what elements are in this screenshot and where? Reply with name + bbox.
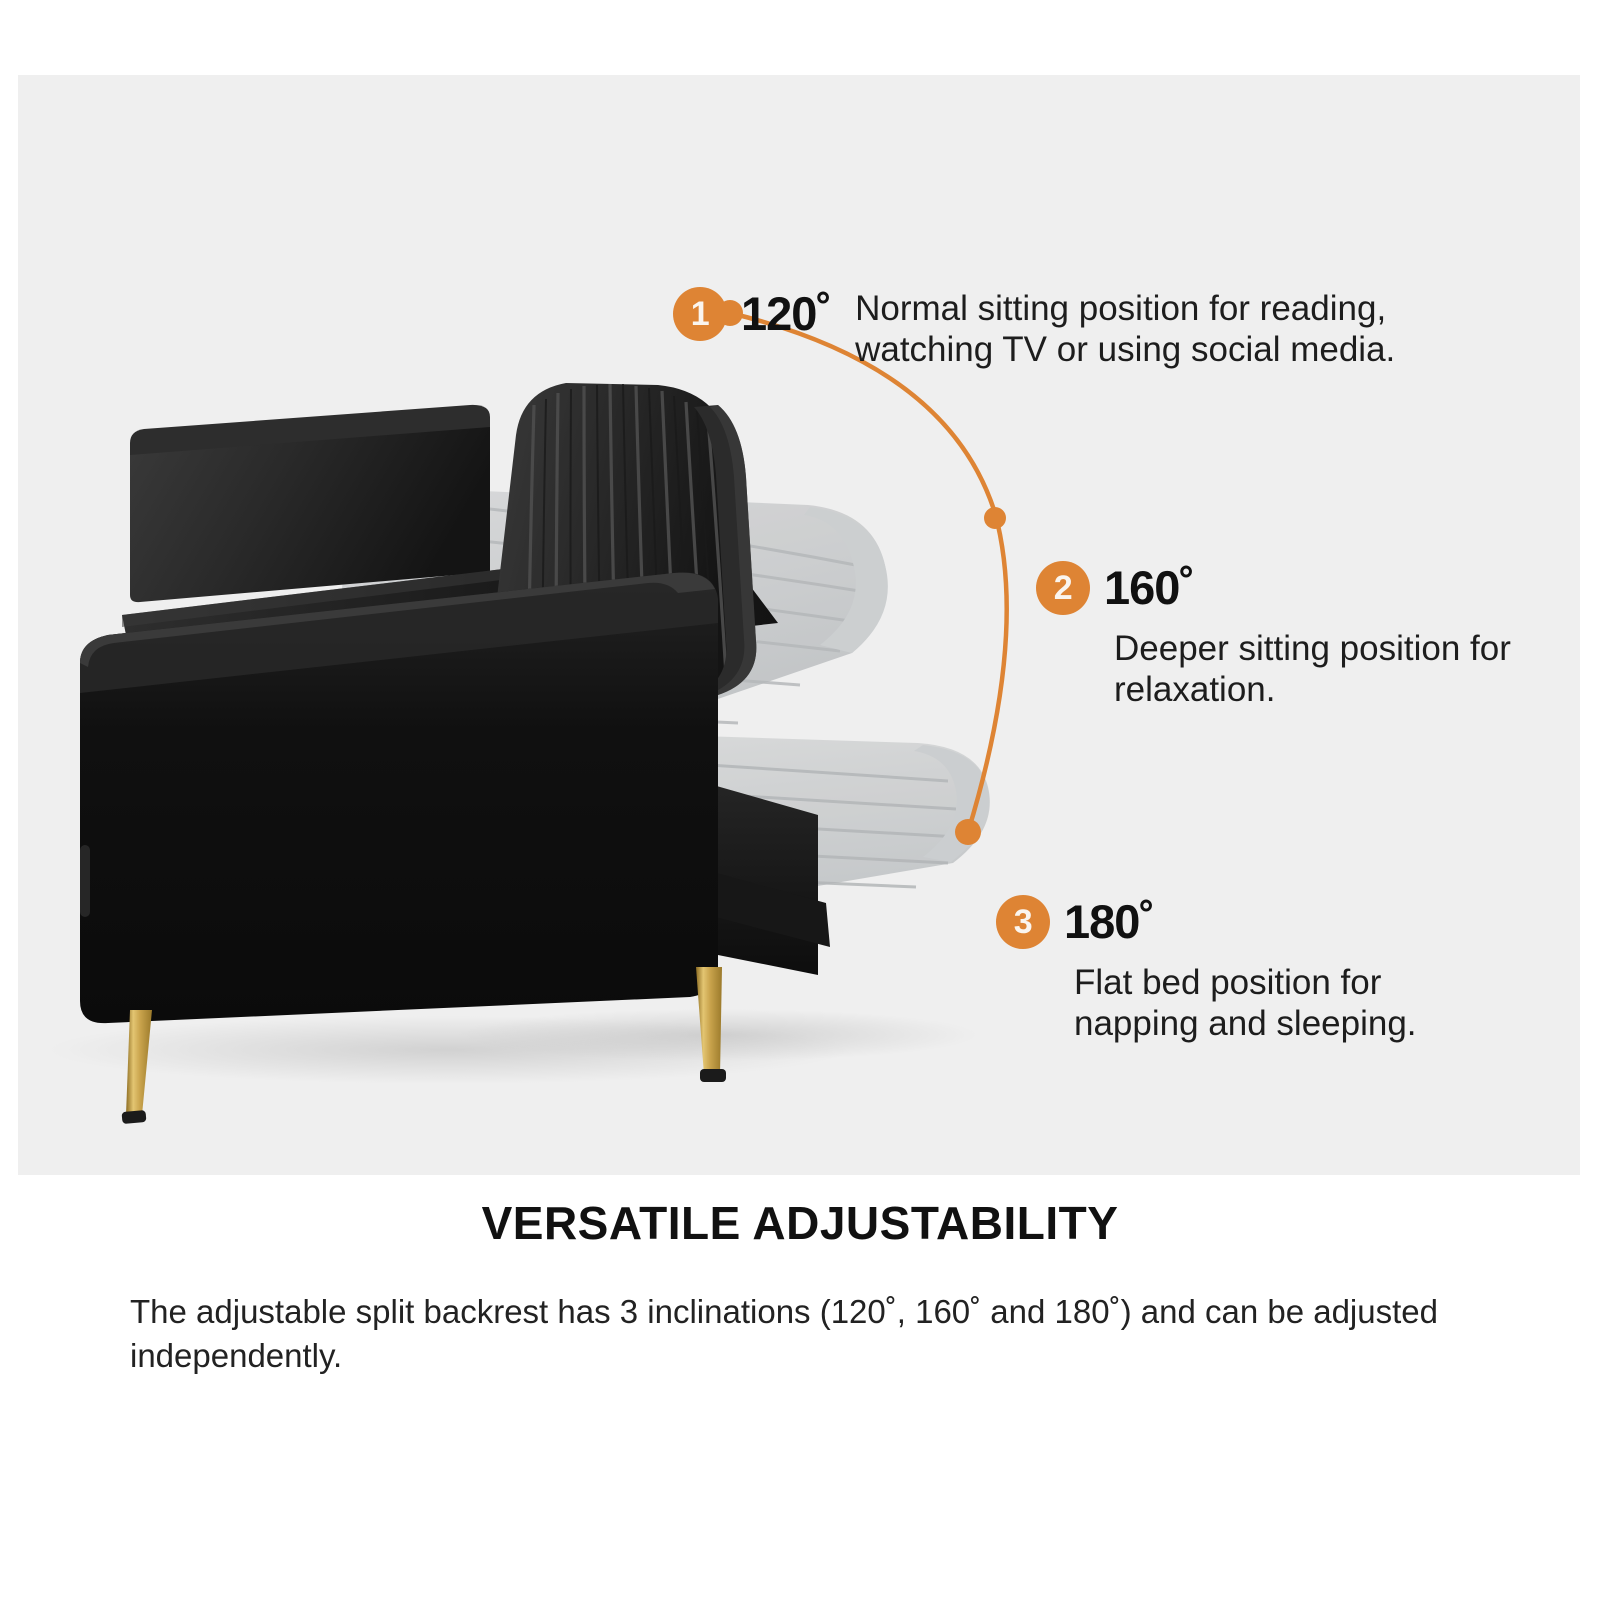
product-image-panel: 1 120˚ Normal sitting position for readi… (18, 75, 1580, 1175)
footer-headline: VERSATILE ADJUSTABILITY (0, 1196, 1600, 1250)
callout-3-description: Flat bed position for napping and sleepi… (1074, 963, 1504, 1044)
callout-3-badge: 3 (996, 895, 1050, 949)
callout-3-angle: 180˚ (1064, 895, 1154, 949)
callout-1-badge: 1 (673, 287, 727, 341)
footer-copy: VERSATILE ADJUSTABILITY The adjustable s… (0, 1196, 1600, 1378)
callout-2-badge: 2 (1036, 561, 1090, 615)
footer-body: The adjustable split backrest has 3 incl… (130, 1290, 1460, 1378)
callout-2: 2 160˚ Deeper sitting position for relax… (1036, 561, 1544, 710)
callout-3: 3 180˚ Flat bed position for napping and… (996, 895, 1504, 1044)
callout-2-description: Deeper sitting position for relaxation. (1114, 629, 1544, 710)
callout-1-description: Normal sitting position for reading, wat… (855, 289, 1515, 370)
callout-1-angle: 120˚ (741, 287, 831, 341)
callout-2-angle: 160˚ (1104, 561, 1194, 615)
callout-1: 1 120˚ Normal sitting position for readi… (673, 287, 1515, 370)
near-armrest (80, 573, 718, 1024)
